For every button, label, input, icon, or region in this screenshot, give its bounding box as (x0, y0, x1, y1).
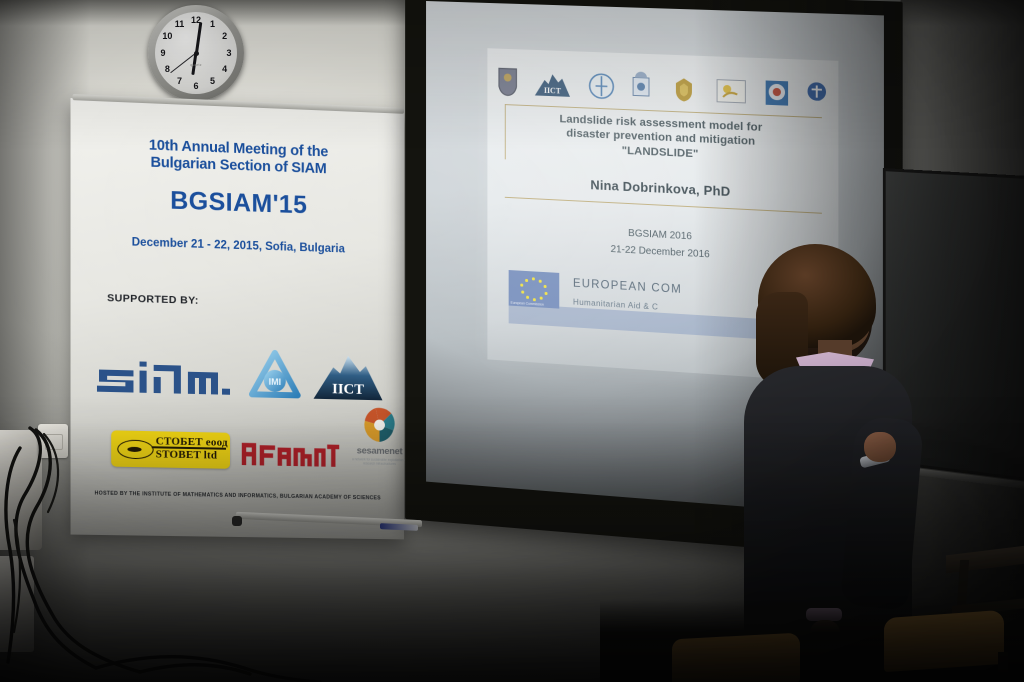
iict-logo: IICT (312, 353, 385, 402)
clock-numeral-1: 1 (206, 19, 220, 30)
clock-face: 121234567891011 quartz (155, 12, 237, 94)
wall-clock: 121234567891011 quartz (148, 5, 244, 101)
iict-mountain-logo: IICT (533, 72, 572, 99)
svg-text:IMI: IMI (269, 377, 281, 387)
clock-brand-text: quartz (190, 63, 202, 67)
svg-text:IICT: IICT (332, 381, 364, 398)
clock-numeral-3: 3 (222, 48, 236, 59)
clock-center-cap (194, 51, 199, 56)
poster-event-name: BGSIAM'15 (85, 183, 391, 223)
room-bottom-shading (0, 422, 1024, 682)
circle-blue-logo (588, 72, 616, 101)
funder-title: EUROPEAN COM (573, 278, 682, 296)
svg-text:IICT: IICT (544, 86, 562, 96)
poster-supported-by-label: SUPPORTED BY: (107, 292, 390, 312)
ministry-crest-logo (497, 66, 518, 96)
clock-numeral-11: 11 (173, 19, 187, 30)
poster-title-line1: 10th Annual Meeting of the Bulgarian Sec… (85, 135, 391, 181)
clock-numeral-9: 9 (156, 48, 170, 59)
conference-room-photo: 121234567891011 quartz 10th Annual Meeti… (0, 0, 1024, 682)
clock-numeral-2: 2 (218, 31, 232, 42)
imi-logo: IMI (249, 349, 301, 402)
eu-flag-icon: European Commission (509, 270, 560, 309)
poster-date-location: December 21 - 22, 2015, Sofia, Bulgaria (85, 235, 391, 257)
clock-numeral-7: 7 (173, 76, 187, 87)
poster-sponsor-row-1: IMI IICT (93, 337, 385, 406)
clock-numeral-4: 4 (218, 64, 232, 75)
clock-numeral-10: 10 (160, 31, 174, 42)
civil-protection-logo (630, 69, 652, 102)
slide-rule-left (505, 104, 506, 159)
clock-minute-hand (195, 22, 202, 53)
siam-logo (93, 351, 234, 399)
clock-numeral-6: 6 (189, 81, 203, 92)
clock-numeral-5: 5 (206, 76, 220, 87)
